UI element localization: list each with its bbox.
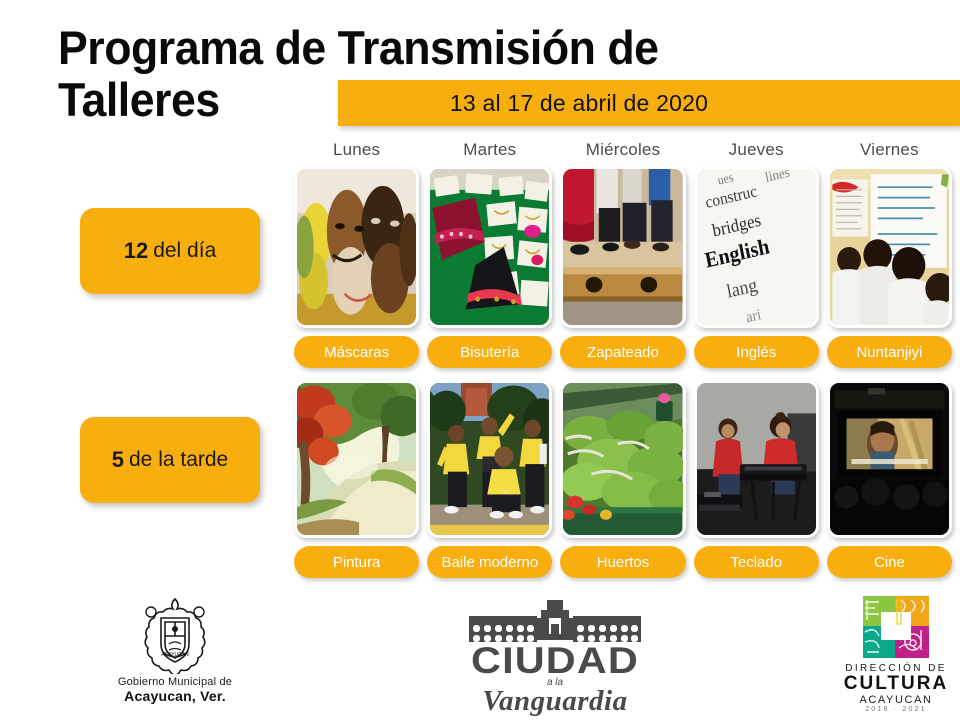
schedule-cell-martes-afternoon: Baile moderno — [423, 380, 556, 578]
schedule-cell-viernes-afternoon: Cine — [823, 380, 956, 578]
cultura-line4: 2018 · 2021 — [836, 706, 956, 713]
dancers-yellow-shirts-photo — [427, 380, 552, 538]
workshop-label-mascaras: Máscaras — [294, 336, 419, 368]
time-slot-afternoon-number: 5 — [112, 447, 124, 473]
logo-ciudad-vanguardia: CIUDAD a la Vanguardia — [430, 600, 680, 715]
landscape-painting-photo — [294, 380, 419, 538]
gobierno-line1: Gobierno Municipal de — [62, 676, 288, 688]
schedule-cell-miercoles-noon: Zapateado — [556, 166, 689, 368]
ciudad-word: CIUDAD — [415, 644, 695, 678]
municipal-palace-illustration — [461, 600, 649, 644]
day-header-martes: Martes — [423, 140, 556, 164]
schedule-cell-lunes-afternoon: Pintura — [290, 380, 423, 578]
workshop-label-teclado: Teclado — [694, 546, 819, 578]
svg-text:ari: ari — [744, 307, 762, 325]
acayucan-coat-of-arms: ACAYUCAN — [139, 596, 211, 674]
workshop-label-nuntanjiyi: Nuntanjɨyi — [827, 336, 952, 368]
schedule-row-afternoon: Pintura — [290, 380, 956, 578]
logo-gobierno-municipal: ACAYUCAN Gobierno Municipal de Acayucan,… — [62, 596, 288, 704]
workshop-label-cine: Cine — [827, 546, 952, 578]
time-slot-noon: 12 del día — [80, 208, 260, 294]
workshop-label-huertos: Huertos — [560, 546, 685, 578]
day-header-miercoles: Miércoles — [556, 140, 689, 164]
vegetable-garden-beds-photo — [560, 380, 685, 538]
schedule-cell-lunes-noon: Máscaras — [290, 166, 423, 368]
schedule-row-noon: Máscaras — [290, 166, 956, 368]
day-header-viernes: Viernes — [823, 140, 956, 164]
dancers-feet-wooden-platform-photo — [560, 166, 685, 328]
girls-playing-keyboards-photo — [694, 380, 819, 538]
colorful-square-logo — [861, 594, 931, 660]
cinema-screen-audience-photo — [827, 380, 952, 538]
ciudad-vanguardia: Vanguardia — [430, 687, 680, 715]
day-header-row: Lunes Martes Miércoles Jueves Viernes — [290, 140, 956, 164]
schedule-cell-martes-noon: Bisutería — [423, 166, 556, 368]
day-header-jueves: Jueves — [690, 140, 823, 164]
schedule-cell-miercoles-afternoon: Huertos — [556, 380, 689, 578]
cultura-line3: ACAYUCAN — [836, 694, 956, 706]
logo-direccion-cultura: DIRECCIÓN DE CULTURA ACAYUCAN 2018 · 202… — [836, 594, 956, 713]
gobierno-line2: Acayucan, Ver. — [62, 688, 288, 704]
time-slot-noon-text: del día — [153, 239, 216, 263]
cultura-line2: CULTURA — [836, 674, 956, 694]
footer: ACAYUCAN Gobierno Municipal de Acayucan,… — [0, 592, 960, 720]
schedule-cell-jueves-afternoon: Teclado — [690, 380, 823, 578]
workshop-label-baile-moderno: Baile moderno — [427, 546, 552, 578]
workshop-label-ingles: Inglés — [694, 336, 819, 368]
poster-canvas: 13 al 17 de abril de 2020 Programa de Tr… — [0, 0, 960, 720]
time-slot-afternoon-text: de la tarde — [129, 448, 228, 472]
time-slot-noon-number: 12 — [124, 238, 148, 264]
workshop-label-pintura: Pintura — [294, 546, 419, 578]
schedule-grid: Máscaras — [290, 166, 956, 586]
time-slot-afternoon: 5 de la tarde — [80, 417, 260, 503]
jewelry-on-green-table-photo — [427, 166, 552, 328]
workshop-label-zapateado: Zapateado — [560, 336, 685, 368]
workshop-label-bisuteria: Bisutería — [427, 336, 552, 368]
children-reading-flipchart-photo — [827, 166, 952, 328]
svg-text:ACAYUCAN: ACAYUCAN — [161, 652, 189, 658]
english-dictionary-page-photo: ues lines construc bridges English lang … — [694, 166, 819, 328]
page-title: Programa de Transmisión de Talleres — [58, 22, 780, 126]
carved-masks-photo — [294, 166, 419, 328]
schedule-cell-jueves-noon: ues lines construc bridges English lang … — [690, 166, 823, 368]
day-header-lunes: Lunes — [290, 140, 423, 164]
schedule-cell-viernes-noon: Nuntanjɨyi — [823, 166, 956, 368]
